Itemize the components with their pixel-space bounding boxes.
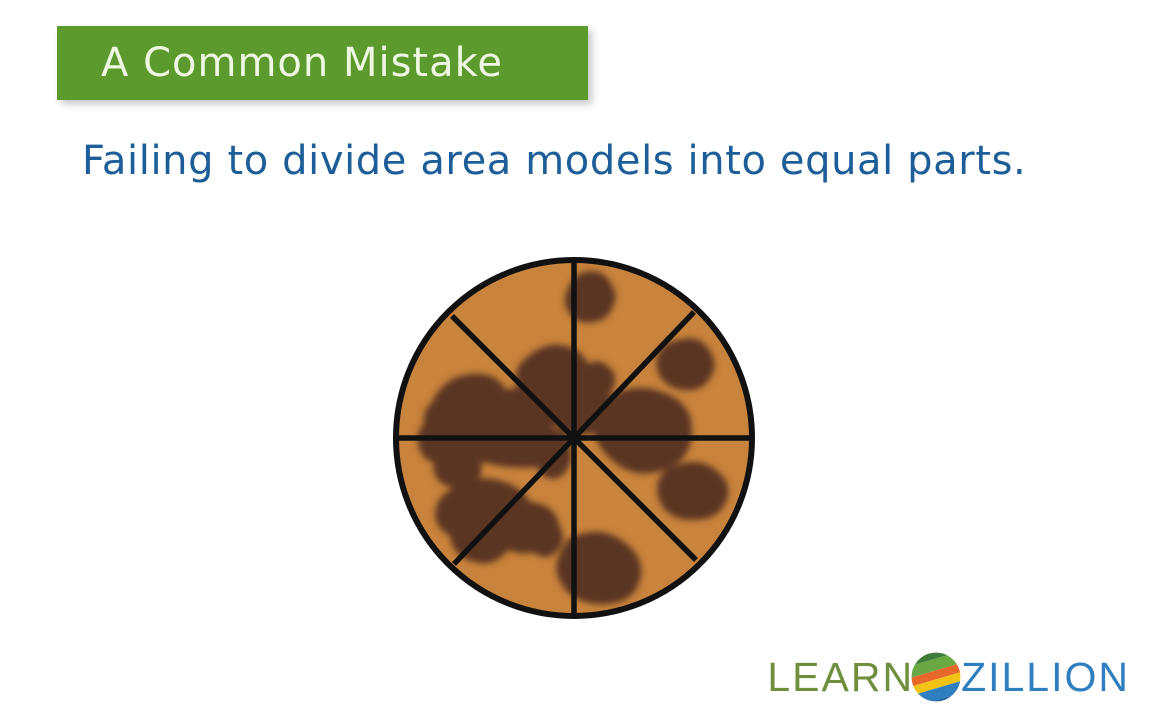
page-title: A Common Mistake — [57, 43, 503, 83]
globe-icon — [910, 651, 962, 703]
learnzillion-logo[interactable]: LEARN ZILLION — [767, 648, 1130, 706]
title-banner: A Common Mistake — [57, 26, 588, 100]
logo-word-zillion: ZILLION — [961, 657, 1130, 698]
slide-canvas: A Common Mistake Failing to divide area … — [0, 0, 1152, 720]
cookie-diagram — [388, 252, 760, 624]
logo-word-learn: LEARN — [767, 657, 914, 698]
body-statement: Failing to divide area models into equal… — [82, 136, 1032, 187]
cookie-area-model — [388, 252, 760, 624]
